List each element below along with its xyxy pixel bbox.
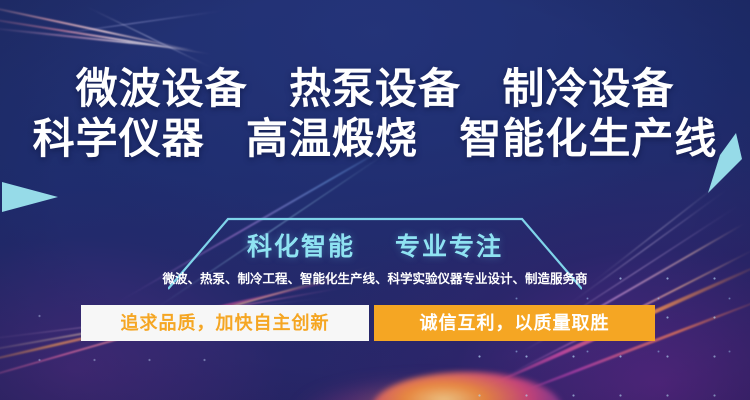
headline-word-5: 高温煅烧: [246, 115, 418, 162]
promo-banner: 微波设备 热泵设备 制冷设备 科学仪器 高温煅烧 智能化生产线 科化智能 专业专…: [0, 0, 750, 400]
headline-word-6: 智能化生产线: [459, 115, 717, 162]
slogan-part-2: 专业专注: [395, 233, 503, 261]
page-title: 微波设备 热泵设备 制冷设备 科学仪器 高温煅烧 智能化生产线: [0, 64, 750, 164]
triangle-right-icon: [2, 182, 58, 212]
quality-slogan-button[interactable]: 追求品质，加快自主创新: [81, 305, 369, 341]
slogan: 科化智能 专业专注: [168, 227, 582, 263]
headline-word-2: 热泵设备: [289, 65, 461, 112]
headline-line-2: 科学仪器 高温煅烧 智能化生产线: [0, 114, 750, 164]
description-text: 微波、热泵、制冷工程、智能化生产线、科学实验仪器专业设计、制造服务商: [150, 268, 600, 287]
headline-word-4: 科学仪器: [33, 115, 205, 162]
headline-word-1: 微波设备: [76, 65, 248, 112]
integrity-slogan-button[interactable]: 诚信互利，以质量取胜: [374, 305, 655, 341]
headline-word-3: 制冷设备: [502, 65, 674, 112]
slogan-part-1: 科化智能: [247, 233, 355, 261]
headline-line-1: 微波设备 热泵设备 制冷设备: [0, 64, 750, 114]
